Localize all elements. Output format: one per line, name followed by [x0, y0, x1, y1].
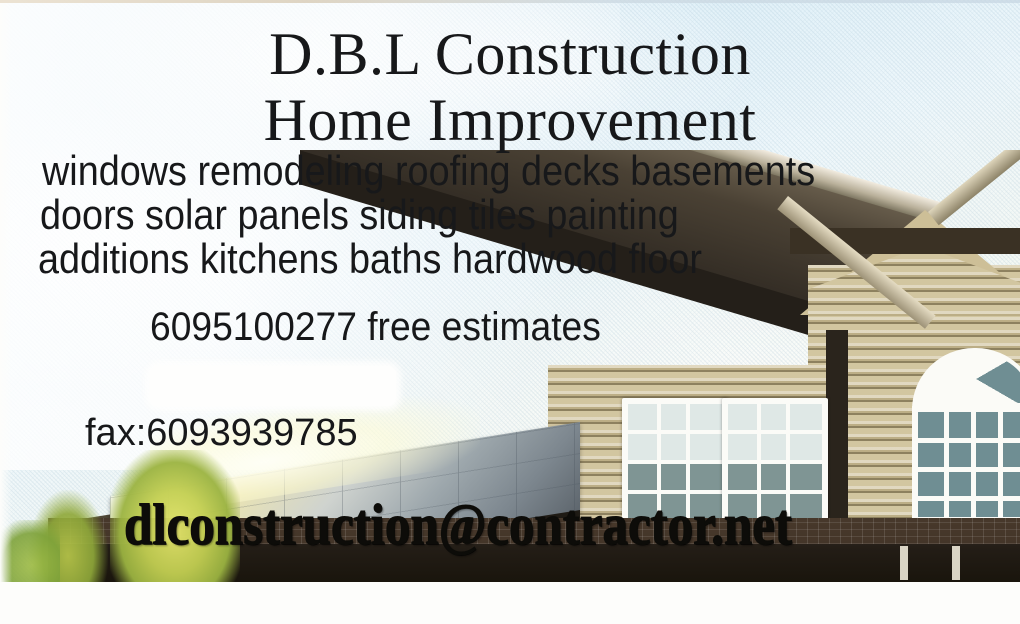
business-name-line-1: D.B.L Construction — [0, 24, 1020, 84]
porch-post-1 — [900, 546, 908, 580]
window-upper-sash — [728, 404, 822, 460]
card-bottom-margin — [0, 582, 1020, 624]
whiteout-correction-patch — [150, 366, 396, 406]
phone-line[interactable]: 6095100277 free estimates — [150, 307, 601, 347]
services-line-2: doors solar panels siding tiles painting — [40, 194, 679, 236]
services-line-3: additions kitchens baths hardwood floor — [38, 238, 702, 280]
email-address[interactable]: dlconstruction@contractor.net — [124, 496, 792, 554]
card-top-edge — [0, 0, 1020, 3]
window-upper-sash — [628, 404, 722, 460]
window-arch-top — [912, 348, 1020, 410]
fax-line: fax:6093939785 — [85, 414, 358, 452]
business-name-line-2: Home Improvement — [0, 90, 1020, 150]
business-title-block: D.B.L Construction Home Improvement — [0, 24, 1020, 150]
business-card: D.B.L Construction Home Improvement wind… — [0, 0, 1020, 624]
palladian-arched-window — [912, 348, 1020, 544]
services-line-1: windows remodeling roofing decks basemen… — [42, 150, 815, 192]
porch-post-2 — [952, 546, 960, 580]
